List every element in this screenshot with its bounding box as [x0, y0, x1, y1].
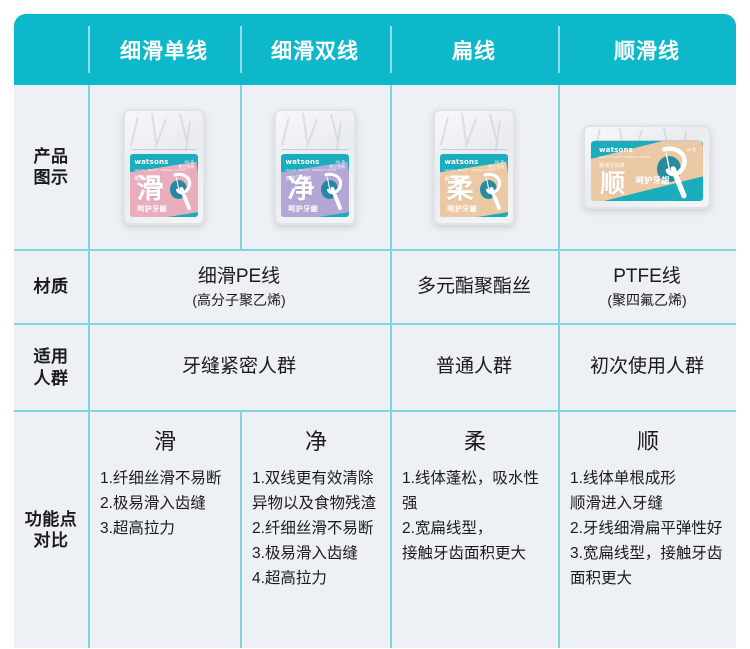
audience-cell-2: 普通人群	[390, 325, 558, 410]
package-image-1: watsons HEALTH . BEAUTY . FRIENDLY ADVIC…	[88, 85, 240, 249]
floss-pick-icon	[656, 144, 694, 199]
feature-title-1: 滑	[100, 424, 230, 456]
package-label: watsons HEALTH . BEAUTY . FRIENDLY ADVIC…	[130, 154, 199, 218]
brand-wordmark: watsons	[134, 158, 168, 166]
package-image-2: watsons HEALTH . BEAUTY . FRIENDLY ADVIC…	[240, 85, 390, 249]
package-big-character: 顺	[600, 172, 625, 197]
feature-cell-3: 柔 1.线体蓬松，吸水性强 2.宽扁线型， 接触牙齿面积更大	[390, 412, 558, 648]
feature-item: 顺滑进入牙缝	[570, 491, 726, 516]
comparison-table-page: 细滑单线 细滑双线 扁线 顺滑线 产品 图示	[0, 0, 750, 649]
header-col-2: 细滑双线	[240, 14, 390, 85]
package-label: watsons HEALTH . BEAUTY . FRIENDLY ADVIC…	[440, 154, 509, 218]
feature-list-3: 1.线体蓬松，吸水性强 2.宽扁线型， 接触牙齿面积更大	[402, 466, 548, 566]
row-label-line-2: 对比	[34, 531, 69, 550]
feature-item: 1.线体蓬松，吸水性强	[402, 466, 548, 516]
quantity-text: 50 支 独立包装	[488, 159, 504, 171]
package-tagline: 呵护牙龈	[288, 204, 318, 214]
feature-title-4: 顺	[570, 424, 726, 456]
floss-pick-icon	[169, 171, 196, 211]
feature-item: 1.双线更有效清除异物以及食物残渣	[252, 466, 380, 516]
audience-cell-3: 初次使用人群	[558, 325, 736, 410]
feature-title-3: 柔	[402, 424, 548, 456]
row-label-line-2: 人群	[34, 369, 69, 388]
product-cell-3: watsons HEALTH . BEAUTY . FRIENDLY ADVIC…	[390, 85, 558, 249]
package-big-character: 净	[288, 176, 315, 203]
package-big-character: 柔	[447, 176, 474, 203]
row-audience: 适用 人群 牙缝紧密人群 普通人群 初次使用人群	[14, 325, 736, 412]
floss-pick-icon	[320, 171, 347, 211]
product-cell-4: watsons HEALTH . BEAUTY . FRIENDLY ADVIC…	[558, 85, 736, 249]
feature-cell-1: 滑 1.纤细丝滑不易断 2.极易滑入齿缝 3.超高拉力	[88, 412, 240, 648]
feature-item: 2.纤细丝滑不易断	[252, 516, 380, 541]
audience-cell-1: 牙缝紧密人群	[88, 325, 390, 410]
package-box: watsons HEALTH . BEAUTY . FRIENDLY ADVIC…	[583, 125, 711, 209]
brand-product-name: 顺滑牙线棒	[599, 162, 625, 169]
feature-item: 4.超高拉力	[252, 566, 380, 591]
feature-cell-4: 顺 1.线体单根成形 顺滑进入牙缝 2.牙线细滑扁平弹性好 3.宽扁线型，接触牙…	[558, 412, 736, 648]
product-comparison-table: 细滑单线 细滑双线 扁线 顺滑线 产品 图示	[14, 14, 736, 644]
audience-main-1: 牙缝紧密人群	[182, 355, 296, 380]
brand-subtext: HEALTH . BEAUTY . FRIENDLY ADVICE	[599, 156, 650, 159]
row-product-images: 产品 图示	[14, 85, 736, 251]
feature-cell-2: 净 1.双线更有效清除异物以及食物残渣 2.纤细丝滑不易断 3.极易滑入齿缝 4…	[240, 412, 390, 648]
row-label-line-1: 适用	[34, 347, 69, 366]
lid-seam	[131, 149, 197, 150]
material-sub-3: (聚四氟乙烯)	[607, 291, 686, 309]
package-box: watsons HEALTH . BEAUTY . FRIENDLY ADVIC…	[123, 109, 205, 225]
row-label-line-1: 功能点	[25, 510, 78, 529]
row-label-material: 材质	[14, 251, 88, 323]
feature-item: 3.超高拉力	[100, 516, 230, 541]
audience-main-3: 初次使用人群	[590, 355, 704, 380]
product-cell-2: watsons HEALTH . BEAUTY . FRIENDLY ADVIC…	[240, 85, 390, 249]
package-big-character: 滑	[137, 176, 164, 203]
package-label: watsons HEALTH . BEAUTY . FRIENDLY ADVIC…	[591, 141, 703, 201]
row-label-audience: 适用 人群	[14, 325, 88, 410]
row-features: 功能点 对比 滑 1.纤细丝滑不易断 2.极易滑入齿缝 3.超高拉力 净 1.双…	[14, 412, 736, 648]
lid-seam	[282, 149, 348, 150]
header-col-1: 细滑单线	[88, 14, 240, 85]
header-col-3: 扁线	[390, 14, 558, 85]
feature-list-4: 1.线体单根成形 顺滑进入牙缝 2.牙线细滑扁平弹性好 3.宽扁线型，接触牙齿面…	[570, 466, 726, 592]
material-main-1: 细滑PE线	[198, 266, 280, 287]
row-material: 材质 细滑PE线 (高分子聚乙烯) 多元酯聚酯丝 PTFE线 (聚四氟乙烯)	[14, 251, 736, 325]
material-main-2: 多元酯聚酯丝	[417, 276, 531, 297]
feature-title-2: 净	[252, 424, 380, 456]
row-label-line-1: 产品	[34, 147, 69, 166]
material-sub-1: (高分子聚乙烯)	[192, 291, 285, 309]
feature-list-2: 1.双线更有效清除异物以及食物残渣 2.纤细丝滑不易断 3.极易滑入齿缝 4.超…	[252, 466, 380, 592]
feature-item: 2.宽扁线型，	[402, 516, 548, 541]
feature-item: 1.线体单根成形	[570, 466, 726, 491]
brand-wordmark: watsons	[285, 158, 319, 166]
header-col-4: 顺滑线	[558, 14, 736, 85]
row-label-line-2: 图示	[34, 168, 69, 187]
package-image-3: watsons HEALTH . BEAUTY . FRIENDLY ADVIC…	[390, 85, 558, 249]
feature-item: 3.宽扁线型，接触牙齿面积更大	[570, 541, 726, 591]
package-image-4: watsons HEALTH . BEAUTY . FRIENDLY ADVIC…	[558, 85, 736, 249]
package-box: watsons HEALTH . BEAUTY . FRIENDLY ADVIC…	[433, 109, 515, 225]
brand-wordmark: watsons	[599, 146, 633, 154]
table-header-row: 细滑单线 细滑双线 扁线 顺滑线	[14, 14, 736, 85]
material-cell-2: 多元酯聚酯丝	[390, 251, 558, 323]
material-cell-1: 细滑PE线 (高分子聚乙烯)	[88, 251, 390, 323]
material-cell-3: PTFE线 (聚四氟乙烯)	[558, 251, 736, 323]
row-label-product-images: 产品 图示	[14, 85, 88, 249]
floss-pick-icon	[479, 171, 506, 211]
product-cell-1: watsons HEALTH . BEAUTY . FRIENDLY ADVIC…	[88, 85, 240, 249]
quantity-text: 50 支 独立包装	[329, 159, 345, 171]
feature-item: 接触牙齿面积更大	[402, 541, 548, 566]
package-tagline: 呵护牙龈	[137, 204, 167, 214]
header-corner-cell	[14, 14, 88, 85]
package-tagline: 呵护牙龈	[447, 204, 477, 214]
feature-item: 2.牙线细滑扁平弹性好	[570, 516, 726, 541]
lid-seam	[441, 149, 507, 150]
feature-item: 3.极易滑入齿缝	[252, 541, 380, 566]
package-label: watsons HEALTH . BEAUTY . FRIENDLY ADVIC…	[281, 154, 350, 218]
quantity-text: 50 支 独立包装	[178, 159, 194, 171]
material-main-3: PTFE线	[613, 266, 681, 287]
package-tagline: 呵护牙龈	[636, 175, 670, 186]
audience-main-2: 普通人群	[436, 355, 512, 380]
feature-item: 1.纤细丝滑不易断	[100, 466, 230, 491]
row-label-features: 功能点 对比	[14, 412, 88, 648]
feature-item: 2.极易滑入齿缝	[100, 491, 230, 516]
brand-wordmark: watsons	[444, 158, 478, 166]
package-box: watsons HEALTH . BEAUTY . FRIENDLY ADVIC…	[274, 109, 356, 225]
feature-list-1: 1.纤细丝滑不易断 2.极易滑入齿缝 3.超高拉力	[100, 466, 230, 541]
